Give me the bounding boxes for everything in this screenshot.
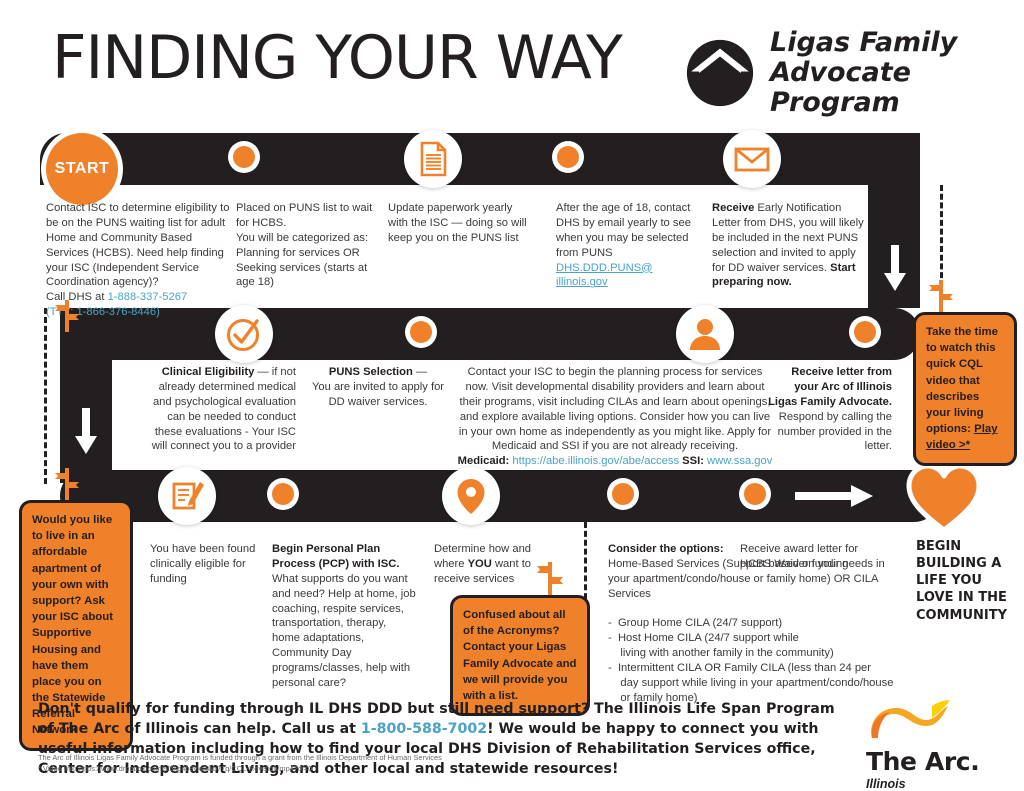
checkmark-circle-icon[interactable]	[215, 305, 273, 363]
cql-video-callout[interactable]: Take the time to watch this quick CQL vi…	[913, 312, 1017, 466]
row2-step4-text: Receive letter from your Arc of Illinois…	[768, 365, 892, 454]
envelope-icon-glyph	[732, 139, 772, 179]
heart-icon[interactable]	[906, 462, 982, 532]
pencil-notes-icon-glyph	[167, 476, 207, 516]
row1-step2-text: Placed on PUNS list to wait for HCBS.You…	[236, 201, 378, 290]
dot-icon-r3-2[interactable]	[272, 483, 294, 505]
person-icon[interactable]	[676, 305, 734, 363]
row2-step2-text: PUNS Selection —You are invited to apply…	[306, 365, 450, 410]
dot-icon-r2-2[interactable]	[410, 321, 432, 343]
right-arrow-icon	[795, 483, 875, 509]
arc-logo-name: The Arc.	[866, 747, 1016, 776]
arc-illinois-logo: The Arc. Illinois	[866, 698, 1016, 791]
envelope-icon[interactable]	[723, 130, 781, 188]
arc-swoosh-icon	[866, 698, 976, 742]
track-row-1	[40, 133, 920, 185]
row1-step5-text: Receive Early Notification Letter from D…	[712, 201, 868, 290]
down-arrow-icon-2	[75, 408, 97, 456]
dot-icon-r3-4[interactable]	[612, 483, 634, 505]
finish-label: BEGIN BUILDING A LIFE YOU LOVE IN THE CO…	[916, 538, 1020, 624]
location-pin-icon-glyph	[451, 476, 491, 516]
row2-step1-text: Clinical Eligibility — if not already de…	[150, 365, 296, 454]
location-pin-icon[interactable]	[442, 467, 500, 525]
fineprint-line-2: * Video link: https://www.dropbox.com/s/…	[38, 763, 442, 774]
checkmark-circle-icon-glyph	[224, 314, 264, 354]
signpost-icon-2	[54, 466, 80, 500]
row3-step2-text: Begin Personal Plan Process (PCP) with I…	[272, 542, 416, 691]
infographic-canvas: FINDING YOUR WAY Ligas Family Advocate P…	[0, 0, 1024, 791]
ligas-logo-text: Ligas Family Advocate Program	[770, 28, 1024, 119]
person-icon-glyph	[685, 314, 725, 354]
arc-logo-state: Illinois	[866, 777, 1016, 791]
pencil-notes-icon[interactable]	[158, 467, 216, 525]
dot-icon-r3-5[interactable]	[744, 483, 766, 505]
signpost-icon-1	[54, 298, 80, 332]
dot-icon-r1-2[interactable]	[233, 146, 255, 168]
signpost-icon-4	[536, 560, 564, 598]
footer-fineprint: The Arc of Illinois Ligas Family Advocat…	[38, 752, 442, 774]
document-icon-glyph	[413, 139, 453, 179]
row1-step3-text: Update paperwork yearly with the ISC — d…	[388, 201, 528, 246]
row3-step3-text: Determine how and where YOU want to rece…	[434, 542, 552, 587]
start-badge[interactable]: START	[46, 133, 118, 205]
down-arrow-icon	[884, 245, 906, 293]
signpost-icon-3	[928, 278, 954, 314]
row3-step1-text: You have been found clinically eligible …	[150, 542, 260, 587]
row3-step5-text: Receive award letter for HCBS Waiver fun…	[740, 542, 866, 572]
row2-step3-text: Contact your ISC to begin the planning p…	[456, 365, 774, 469]
ligas-logo: Ligas Family Advocate Program	[684, 28, 1024, 119]
document-icon[interactable]	[404, 130, 462, 188]
dot-icon-r1-4[interactable]	[557, 146, 579, 168]
fineprint-line-1: The Arc of Illinois Ligas Family Advocat…	[38, 752, 442, 763]
track-left-connector	[60, 308, 112, 483]
dotted-connector-center	[584, 522, 587, 608]
dot-icon-r2-4[interactable]	[854, 321, 876, 343]
dotted-connector-left	[44, 308, 47, 484]
row1-step4-text: After the age of 18, contact DHS by emai…	[556, 201, 696, 290]
start-label: START	[55, 160, 110, 178]
acronyms-callout[interactable]: Confused about all of the Acronyms? Cont…	[450, 595, 590, 716]
page-title: FINDING YOUR WAY	[52, 28, 622, 88]
house-with-person-heart-icon	[684, 37, 756, 109]
